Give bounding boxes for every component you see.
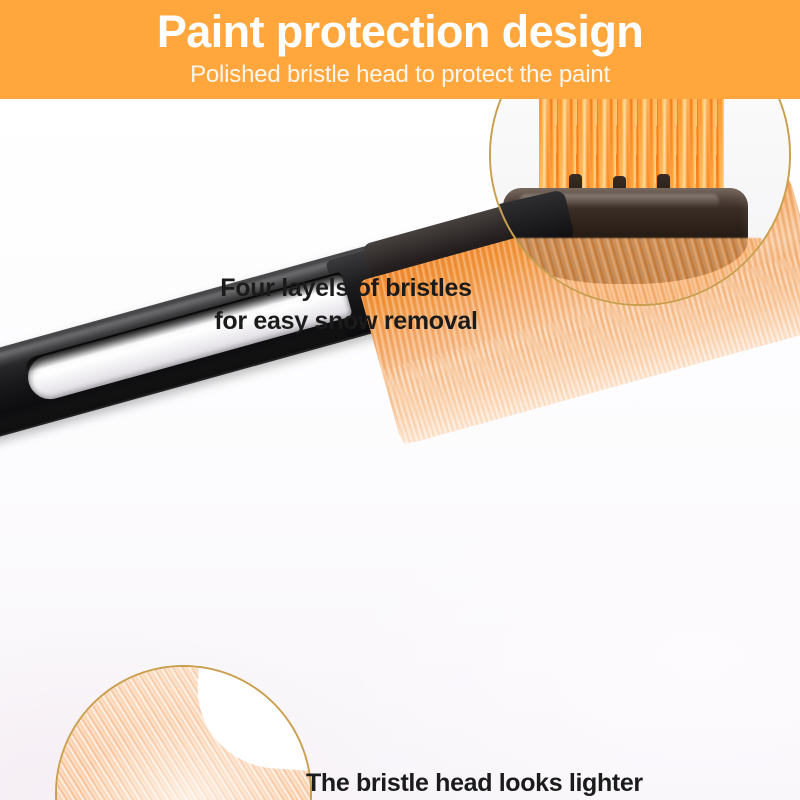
header-banner: Paint protection design Polished bristle… <box>0 0 800 99</box>
callout-polished-bristle: The bristle head looks lighter in color … <box>306 767 726 800</box>
inset-top-lower-bristles <box>489 238 761 306</box>
infographic-canvas: Paint protection design Polished bristle… <box>0 0 800 800</box>
callout-top-line2: for easy snow removal <box>196 305 496 338</box>
callout-top-line1: Four layels of bristles <box>196 272 496 305</box>
callout-four-layers: Four layels of bristles for easy snow re… <box>196 272 496 338</box>
inset-polished-bristle-closeup <box>55 665 312 800</box>
product-photo: Four layels of bristles for easy snow re… <box>0 99 800 800</box>
inset-bristle-head-closeup <box>489 99 791 306</box>
callout-bottom-line1: The bristle head looks lighter <box>306 767 726 800</box>
page-subtitle: Polished bristle head to protect the pai… <box>0 60 800 90</box>
page-title: Paint protection design <box>0 5 800 59</box>
